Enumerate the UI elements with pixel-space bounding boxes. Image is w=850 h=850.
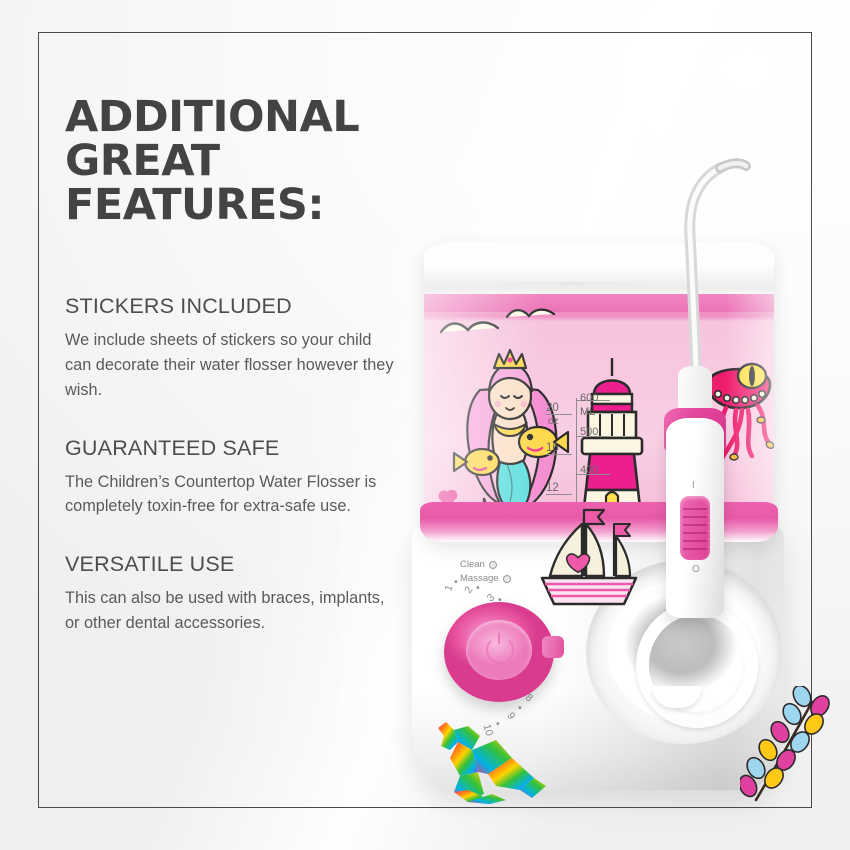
product-image: 600 ML 20 oz 500 16 400 12 300 8 200 [400, 150, 830, 830]
mode-clean: Clean [460, 558, 511, 572]
scale-ml-400: 400 [580, 464, 598, 476]
product-marketing-image: ADDITIONAL GREAT FEATURES: STICKERS INCL… [0, 0, 850, 850]
feature-title: VERSATILE USE [65, 552, 395, 577]
feature-guaranteed-safe: GUARANTEED SAFE The Children’s Counterto… [65, 436, 395, 520]
feature-body: We include sheets of stickers so your ch… [65, 328, 395, 402]
mode-clean-label: Clean [460, 558, 485, 572]
feature-title: STICKERS INCLUDED [65, 294, 395, 319]
switch-on-label: I [692, 480, 695, 491]
feature-versatile-use: VERSATILE USE This can also be used with… [65, 552, 395, 636]
text-column: ADDITIONAL GREAT FEATURES: STICKERS INCL… [65, 96, 395, 669]
power-icon [486, 636, 514, 664]
feature-stickers-included: STICKERS INCLUDED We include sheets of s… [65, 294, 395, 402]
flosser-handle[interactable]: I O [636, 150, 756, 620]
scale-oz-12: 12 [546, 482, 559, 494]
page-title: ADDITIONAL GREAT FEATURES: [65, 96, 395, 226]
scale-oz-unit: oz [548, 416, 559, 427]
feature-title: GUARANTEED SAFE [65, 436, 395, 461]
dial-pointer[interactable] [542, 636, 564, 658]
rainbow-kangaroo-sticker [428, 706, 548, 811]
feature-body: This can also be used with braces, impla… [65, 586, 395, 636]
feature-list: STICKERS INCLUDED We include sheets of s… [65, 294, 395, 635]
pressure-2: 2 [462, 584, 475, 595]
headline-line-1: ADDITIONAL [65, 96, 395, 138]
power-slider-switch[interactable] [680, 496, 710, 560]
headline-line-2: GREAT [65, 140, 395, 182]
scale-ml-unit: ML [580, 406, 595, 418]
scale-oz-16: 16 [546, 442, 559, 454]
switch-off-label: O [692, 564, 700, 575]
clean-indicator-dot [489, 561, 497, 569]
lid-seam [480, 282, 662, 285]
feature-body: The Children’s Countertop Water Flosser … [65, 470, 395, 520]
scale-ml-600: 600 [580, 392, 598, 404]
headline-line-3: FEATURES: [65, 184, 395, 226]
scale-oz-20: 20 [546, 402, 559, 414]
scale-ml-500: 500 [580, 426, 598, 438]
leaf-branch-sticker [740, 686, 836, 806]
